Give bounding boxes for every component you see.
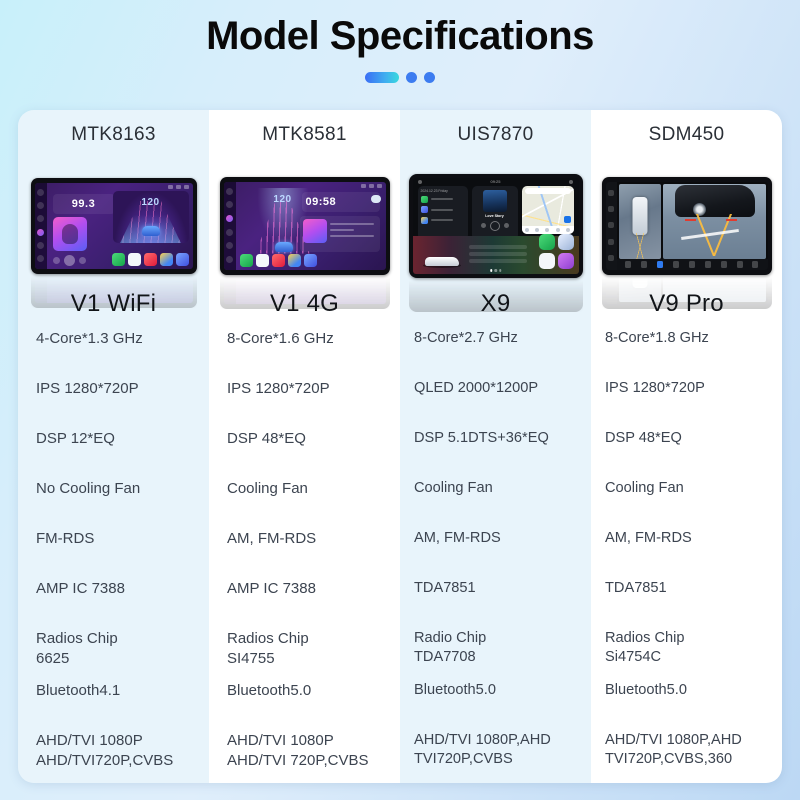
radio-frequency-widget: 99.3 bbox=[53, 194, 115, 214]
spec-column-uis7870: UIS7870 09:25 bbox=[400, 110, 591, 783]
spec-amp: TDA7851 bbox=[591, 579, 782, 629]
spec-column-sdm450: SDM450 bbox=[591, 110, 782, 783]
device-preview-v1-wifi: 99.3 120 bbox=[18, 150, 209, 301]
app-icon-music bbox=[144, 253, 157, 266]
spec-cooling: No Cooling Fan bbox=[18, 479, 209, 529]
model-name: V1 WiFi bbox=[18, 290, 209, 318]
head-unit-bezel bbox=[602, 177, 772, 275]
spec-radio-chip: Radios Chip 6625 bbox=[18, 629, 209, 681]
spec-dsp: DSP 5.1DTS+36*EQ bbox=[400, 429, 591, 479]
spec-radio-band: AM, FM-RDS bbox=[591, 529, 782, 579]
view-360-icon bbox=[657, 261, 663, 268]
play-icon bbox=[64, 255, 75, 266]
head-unit-screen: 09:25 2024.12.23 Friday bbox=[413, 178, 579, 274]
page-dots bbox=[490, 269, 502, 272]
distance-marker-left bbox=[685, 219, 696, 222]
nav-icon-active bbox=[226, 215, 233, 222]
spec-list: 8-Core*2.7 GHz QLED 2000*1200P DSP 5.1DT… bbox=[400, 301, 591, 783]
head-unit-bezel: 120 09:58 bbox=[220, 177, 390, 275]
nav-icon-5 bbox=[37, 242, 44, 249]
spec-radio-chip: Radios Chip Si4754C bbox=[591, 629, 782, 681]
view-right-icon bbox=[689, 261, 695, 268]
distance-marker-right bbox=[726, 219, 737, 222]
nav-icon-1 bbox=[226, 188, 233, 195]
menu-item-bluetooth bbox=[421, 196, 465, 203]
spec-display: IPS 1280*720P bbox=[209, 379, 400, 429]
spec-cooling: Cooling Fan bbox=[209, 479, 400, 529]
spec-radio-band: FM-RDS bbox=[18, 529, 209, 579]
map-locate-button bbox=[564, 216, 571, 223]
spec-cpu: 8-Core*2.7 GHz bbox=[400, 329, 591, 379]
pagination-dot-2[interactable] bbox=[406, 72, 417, 83]
app-icon-music bbox=[272, 254, 285, 267]
spec-camera-input: AHD/TVI 1080P AHD/TVI720P,CVBS bbox=[18, 731, 209, 783]
detected-vehicle bbox=[675, 185, 755, 217]
app-icon-carplay bbox=[240, 254, 253, 267]
carousel-pagination[interactable] bbox=[0, 72, 800, 83]
nav-icon-6 bbox=[226, 256, 233, 263]
spec-cooling: Cooling Fan bbox=[591, 479, 782, 529]
menu-item-recorder bbox=[421, 217, 465, 224]
head-unit-screen bbox=[606, 182, 768, 270]
app-dock bbox=[112, 253, 189, 266]
app-icon-auto bbox=[256, 254, 269, 267]
carlink-icon bbox=[421, 206, 428, 213]
nav-icon-2 bbox=[37, 202, 44, 209]
app-icon-carplay bbox=[112, 253, 125, 266]
spec-radio-chip: Radios Chip SI4755 bbox=[209, 629, 400, 681]
view-left-icon bbox=[673, 261, 679, 268]
screen-sidebar bbox=[224, 182, 236, 270]
chipset-name: UIS7870 bbox=[400, 110, 591, 146]
quick-menu-card: 2024.12.23 Friday bbox=[418, 186, 468, 240]
spec-bluetooth: Bluetooth4.1 bbox=[18, 681, 209, 731]
spec-cpu: 4-Core*1.3 GHz bbox=[18, 329, 209, 379]
camera-view-toolbar bbox=[617, 259, 768, 270]
next-icon bbox=[79, 257, 86, 264]
recorder-icon bbox=[421, 217, 428, 224]
nav-icon-1 bbox=[608, 190, 614, 196]
music-widget bbox=[300, 216, 380, 252]
status-icon-b bbox=[369, 184, 374, 188]
vehicle-stats bbox=[469, 245, 527, 266]
rear-camera-view bbox=[663, 184, 766, 259]
speed-readout: 120 bbox=[141, 197, 159, 208]
bluetooth-icon bbox=[421, 196, 428, 203]
spec-radio-chip: Radio Chip TDA7708 bbox=[400, 629, 591, 681]
spec-list: 8-Core*1.8 GHz IPS 1280*720P DSP 48*EQ C… bbox=[591, 301, 782, 783]
chipset-name: SDM450 bbox=[591, 110, 782, 146]
screen-sidebar bbox=[606, 182, 617, 270]
camera-mode-icon bbox=[625, 261, 631, 268]
car-graphic bbox=[142, 226, 160, 236]
nav-icon-2 bbox=[226, 201, 233, 208]
spec-radio-band: AM, FM-RDS bbox=[209, 529, 400, 579]
spec-radio-band: AM, FM-RDS bbox=[400, 529, 591, 579]
nav-icon-2 bbox=[608, 206, 614, 212]
spec-cpu: 8-Core*1.8 GHz bbox=[591, 329, 782, 379]
clock-widget: 09:58 bbox=[302, 192, 380, 212]
driving-visual: 120 bbox=[113, 191, 189, 243]
spec-dsp: DSP 48*EQ bbox=[209, 429, 400, 479]
head-unit-bezel: 99.3 120 bbox=[31, 178, 197, 274]
page-title: Model Specifications bbox=[0, 14, 800, 58]
page-root: Model Specifications MTK8163 bbox=[0, 0, 800, 800]
header: Model Specifications bbox=[0, 0, 800, 83]
model-name: X9 bbox=[400, 290, 591, 318]
speed-readout: 120 bbox=[273, 194, 291, 205]
device-preview-x9: 09:25 2024.12.23 Friday bbox=[400, 150, 591, 301]
status-icon-b bbox=[176, 185, 181, 189]
spec-cpu: 8-Core*1.6 GHz bbox=[209, 329, 400, 379]
vehicle-dashboard bbox=[413, 236, 579, 274]
app-dock bbox=[539, 234, 574, 269]
prev-icon bbox=[53, 257, 60, 264]
nav-icon-6 bbox=[37, 255, 44, 262]
album-art bbox=[303, 219, 327, 243]
track-title: Love Story bbox=[475, 214, 515, 218]
nav-icon-5 bbox=[608, 255, 614, 261]
model-name: V9 Pro bbox=[591, 290, 782, 318]
status-clock: 09:25 bbox=[490, 179, 500, 184]
album-art bbox=[483, 190, 507, 212]
spec-display: QLED 2000*1200P bbox=[400, 379, 591, 429]
map-search-bar bbox=[525, 188, 571, 194]
spec-display: IPS 1280*720P bbox=[591, 379, 782, 429]
head-unit-screen: 99.3 120 bbox=[35, 183, 193, 269]
menu-item-carlink bbox=[421, 206, 465, 213]
status-bar: 09:25 bbox=[413, 178, 579, 186]
car-graphic bbox=[275, 242, 293, 252]
spec-display: IPS 1280*720P bbox=[18, 379, 209, 429]
next-icon bbox=[504, 223, 509, 228]
spec-list: 8-Core*1.6 GHz IPS 1280*720P DSP 48*EQ C… bbox=[209, 301, 400, 783]
prev-icon bbox=[481, 223, 486, 228]
spec-bluetooth: Bluetooth5.0 bbox=[400, 681, 591, 731]
nav-icon-1 bbox=[37, 189, 44, 196]
spec-bluetooth: Bluetooth5.0 bbox=[591, 681, 782, 731]
head-unit-bezel: 09:25 2024.12.23 Friday bbox=[409, 174, 583, 278]
spec-cooling: Cooling Fan bbox=[400, 479, 591, 529]
app-icon-maps bbox=[160, 253, 173, 266]
status-icon-a bbox=[361, 184, 366, 188]
spec-column-mtk8581: MTK8581 bbox=[209, 110, 400, 783]
birdseye-camera-view bbox=[619, 184, 661, 259]
music-card: Love Story bbox=[472, 186, 518, 240]
nav-icon-active bbox=[37, 229, 44, 236]
spec-camera-input: AHD/TVI 1080P AHD/TVI 720P,CVBS bbox=[209, 731, 400, 783]
spec-dsp: DSP 48*EQ bbox=[591, 429, 782, 479]
settings-icon bbox=[752, 261, 758, 268]
screen-sidebar bbox=[35, 183, 47, 269]
status-icon-a bbox=[168, 185, 173, 189]
chipset-name: MTK8581 bbox=[209, 110, 400, 146]
nav-icon-5 bbox=[226, 242, 233, 249]
track-info bbox=[327, 219, 377, 249]
album-art bbox=[53, 217, 87, 251]
weather-icon bbox=[371, 195, 381, 203]
app-icon-assistant bbox=[558, 253, 574, 269]
date-label: 2024.12.23 Friday bbox=[421, 189, 465, 193]
status-icon-c bbox=[184, 185, 189, 189]
spec-column-mtk8163: MTK8163 bbox=[18, 110, 209, 783]
spec-dsp: DSP 12*EQ bbox=[18, 429, 209, 479]
app-icon-more bbox=[304, 254, 317, 267]
pagination-dot-3[interactable] bbox=[424, 72, 435, 83]
play-icon bbox=[490, 221, 500, 231]
device-preview-v1-4g: 120 09:58 bbox=[209, 150, 400, 301]
app-icon-more bbox=[176, 253, 189, 266]
map-card bbox=[522, 186, 574, 234]
view-top-icon bbox=[721, 261, 727, 268]
spec-camera-input: AHD/TVI 1080P,AHD TVI720P,CVBS bbox=[400, 731, 591, 783]
spec-amp: AMP IC 7388 bbox=[209, 579, 400, 629]
media-controls bbox=[475, 221, 515, 231]
app-icon-maps bbox=[288, 254, 301, 267]
view-rear-icon bbox=[705, 261, 711, 268]
spec-list: 4-Core*1.3 GHz IPS 1280*720P DSP 12*EQ N… bbox=[18, 301, 209, 783]
settings-icon bbox=[569, 180, 573, 184]
nav-icon-4 bbox=[608, 239, 614, 245]
model-name: V1 4G bbox=[209, 290, 400, 318]
media-controls bbox=[53, 255, 86, 266]
view-3d-icon bbox=[737, 261, 743, 268]
status-icon-c bbox=[377, 184, 382, 188]
head-unit-screen: 120 09:58 bbox=[224, 182, 386, 270]
spec-amp: TDA7851 bbox=[400, 579, 591, 629]
car-render bbox=[421, 253, 463, 269]
app-icon-maps bbox=[539, 253, 555, 269]
spec-bluetooth: Bluetooth5.0 bbox=[209, 681, 400, 731]
map-tab-bar bbox=[522, 226, 574, 234]
nav-icon-3 bbox=[608, 222, 614, 228]
app-dock bbox=[240, 254, 317, 267]
spec-camera-input: AHD/TVI 1080P,AHD TVI720P,CVBS,360 bbox=[591, 731, 782, 783]
nav-icon-4 bbox=[226, 229, 233, 236]
view-front-icon bbox=[641, 261, 647, 268]
spec-amp: AMP IC 7388 bbox=[18, 579, 209, 629]
app-icon-auto bbox=[128, 253, 141, 266]
app-icon-carplay bbox=[539, 234, 555, 250]
device-preview-v9-pro: V9 Pro bbox=[591, 150, 782, 301]
nav-icon-3 bbox=[37, 215, 44, 222]
app-icon-auto bbox=[558, 234, 574, 250]
spec-comparison-table: MTK8163 bbox=[18, 110, 782, 783]
pagination-active-pill[interactable] bbox=[365, 72, 399, 83]
home-icon bbox=[418, 180, 422, 184]
chipset-name: MTK8163 bbox=[18, 110, 209, 146]
